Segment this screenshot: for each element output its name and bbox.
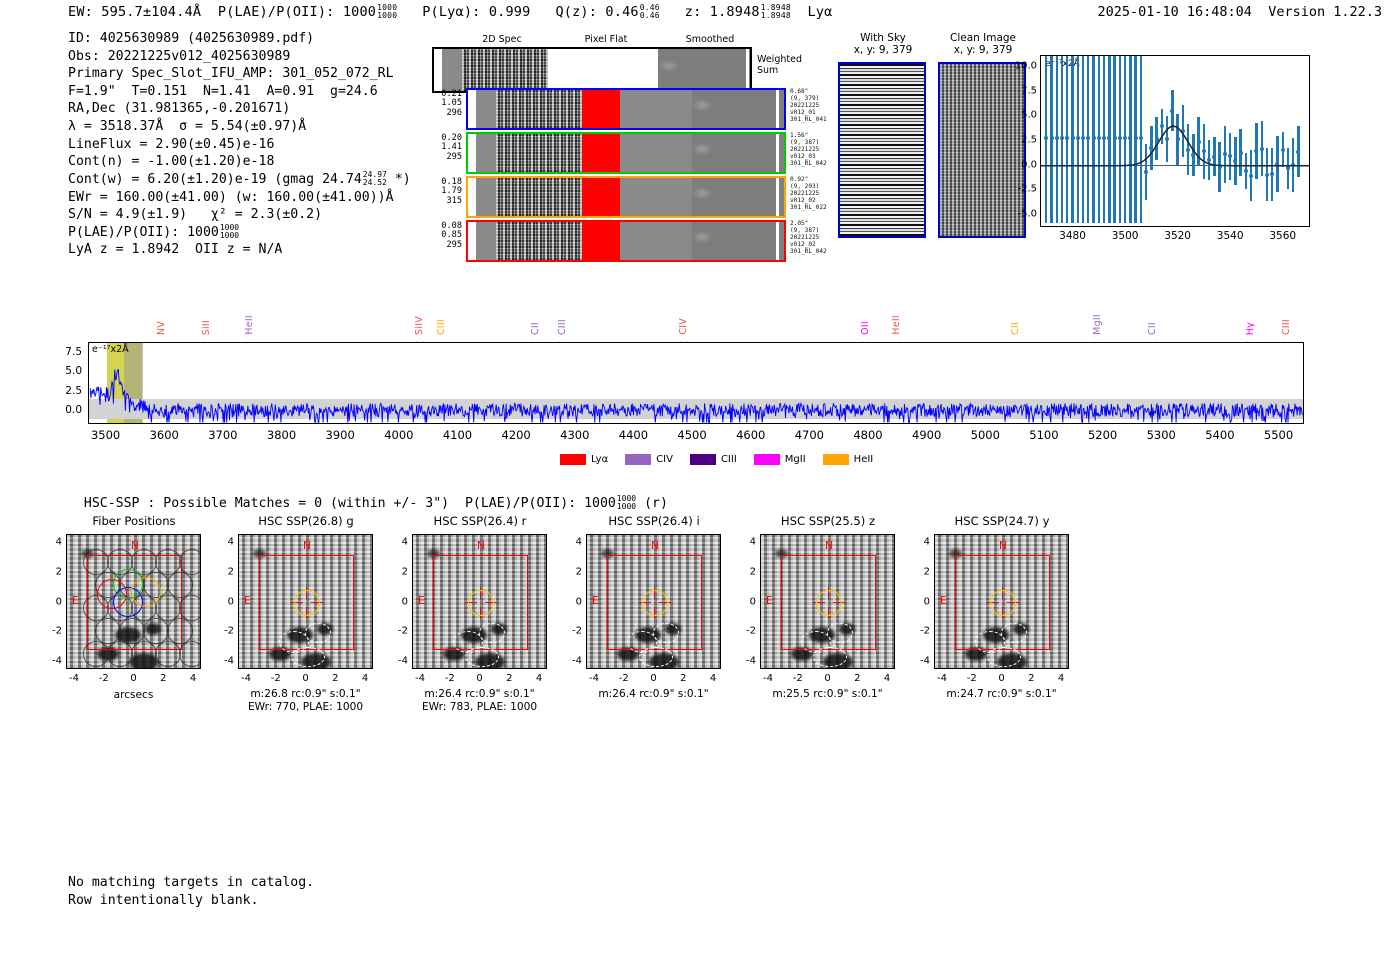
fitplot-y-tick: 0.0 [1021,159,1037,170]
gmag-fraction: 24.9724.52 [363,171,387,187]
emission-line-label: MgII [1092,314,1103,335]
legend-item: Lyα [560,454,608,465]
cutout-x-tick: -4 [937,673,947,684]
cutout-x-tick: 0 [130,673,136,684]
spectrum-x-tick: 4700 [795,428,824,442]
fiber-circle [83,641,109,667]
fiber-row-metrics: 0.181.79315 [432,178,462,206]
info-redshifts: LyA z = 1.8942 OII z = N/A [68,241,411,259]
spectrum-y-tick: 5.0 [65,365,82,377]
fiber-circle [119,618,145,644]
col-header-pixelflat: Pixel Flat [554,34,658,45]
emission-line-label: CII [1010,322,1021,335]
cutout-caption-mag: m:24.7 rc:0.9" s:0.1" [907,688,1097,701]
detected-source-ellipse [813,647,847,667]
info-plae: P(LAE)/P(OII): 100010001000 [68,224,411,242]
emission-line-label: NV [156,321,167,335]
emission-line-label: SiII [201,320,212,335]
emission-line-label: SiIV [414,316,425,335]
aperture-circle [294,590,320,616]
cutout-x-tick: -2 [793,673,803,684]
spectrum-x-tick: 4600 [736,428,765,442]
cutout-y-tick: 0 [44,596,62,607]
fiber-circle [83,549,109,575]
clean-image-title: Clean Imagex, y: 9, 379 [928,32,1038,56]
spectrum-x-tick: 4100 [443,428,472,442]
cutout-title: HSC SSP(26.8) g [221,514,391,528]
legend-label: HeII [854,454,874,465]
cutout-y-tick: 2 [44,566,62,577]
legend-swatch [625,454,651,465]
footer-line-2: Row intentionally blank. [68,892,314,910]
legend-swatch [823,454,849,465]
detected-source-ellipse [987,647,1021,667]
cutout-x-tick: -4 [763,673,773,684]
detected-source-ellipse [639,647,673,667]
cutout-x-tick: 0 [650,673,656,684]
summary-header: EW: 595.7±104.4Å P(LAE)/P(OII): 10001000… [68,4,833,20]
fitplot-y-tick: -2.5 [1017,184,1037,195]
cutout-y-tick: 2 [738,566,756,577]
fiber-circle [179,549,201,575]
weighted-sum-label: WeightedSum [757,54,802,76]
spectrum-x-tick: 4300 [560,428,589,442]
spectrum-x-tick: 4500 [677,428,706,442]
cutout-x-tick: 2 [160,673,166,684]
fiber-row-meta: 2.05"(9, 387)20221225v012_02301_RL_042 [790,220,844,255]
cutout-y-tick: -4 [912,656,930,667]
cutout-x-tick: 4 [190,673,196,684]
cutout-x-tick: -2 [99,673,109,684]
aperture-circle [468,590,494,616]
compass-east: E [766,595,773,607]
info-primary-spec: Primary Spec_Slot_IFU_AMP: 301_052_072_R… [68,65,411,83]
fiber-circle [95,618,121,644]
detected-source-ellipse [653,623,679,643]
cutout-x-tick: -2 [271,673,281,684]
emission-line-label: CIII [1281,319,1292,335]
spectrum-y-tick: 2.5 [65,385,82,397]
info-cont-n: Cont(n) = -1.00(±1.20)e-18 [68,153,411,171]
fiber-row-frame [466,220,786,262]
cutout-x-tick: 2 [506,673,512,684]
line-name: Lyα [808,4,833,20]
fitplot-x-tick: 3560 [1269,230,1296,242]
gaussian-fit-curve [1041,56,1309,226]
spectrum-x-tick: 3600 [150,428,179,442]
cutout-x-tick: 2 [680,673,686,684]
fiber-row-metrics: 0.201.41295 [432,134,462,162]
cutout-title: Fiber Positions [49,514,219,528]
emission-line-label: CIII [557,319,568,335]
cutout-y-tick: -2 [738,626,756,637]
col-header-smoothed: Smoothed [658,34,762,45]
info-obs: Obs: 20221225v012_4025630989 [68,48,411,66]
emission-line-label: CII [530,322,541,335]
spectrum-y-tick: 0.0 [65,404,82,416]
plya-value: P(Lyα): 0.999 [422,4,530,20]
spectrum-x-tick: 3700 [208,428,237,442]
legend-swatch [690,454,716,465]
cutout-y-tick: 0 [912,596,930,607]
fitplot-y-tick: -5.0 [1017,209,1037,220]
cutout-x-tick: -4 [415,673,425,684]
cutout-caption: m:24.7 rc:0.9" s:0.1" [907,688,1097,701]
compass-east: E [72,595,79,607]
cutout-x-tick: 2 [854,673,860,684]
legend-swatch [560,454,586,465]
fiber-row-meta: 1.56"(9, 387)20221225v012_03301_RL_042 [790,132,844,167]
spectrum-x-tick: 5500 [1264,428,1293,442]
fiber-row-frame [466,132,786,174]
aperture-circle [990,590,1016,616]
legend-item: CIII [690,454,737,465]
clean-image [938,62,1026,238]
info-lineflux: LineFlux = 2.90(±0.45)e-16 [68,136,411,154]
cutout-y-tick: 4 [912,537,930,548]
fitplot-x-tick: 3520 [1164,230,1191,242]
info-radec: RA,Dec (31.981365,-0.201671) [68,100,411,118]
legend-label: CIII [721,454,737,465]
fiber-circle [155,549,181,575]
compass-east: E [244,595,251,607]
compass-east: E [592,595,599,607]
cutout-y-tick: -2 [44,626,62,637]
fiber-circle [131,641,157,667]
cutout-y-tick: 0 [216,596,234,607]
legend-label: Lyα [591,454,608,465]
cutout-x-tick: -2 [619,673,629,684]
spectrum-x-tick: 5400 [1205,428,1234,442]
line-fit-plot: e⁻¹⁷x2Å 10.07.55.02.50.0-2.5-5.0 3480350… [1040,55,1310,227]
emission-line-label: OII [860,321,871,335]
spectrum-trace [89,343,1303,423]
info-snr: S/N = 4.9(±1.9) χ² = 2.3(±0.2) [68,206,411,224]
cutout-y-tick: -2 [564,626,582,637]
aperture-circle [816,590,842,616]
with-sky-title: With Skyx, y: 9, 379 [828,32,938,56]
cutout-caption-mag: m:25.5 rc:0.9" s:0.1" [733,688,923,701]
compass-north: N [651,540,659,552]
spectrum-x-tick: 3900 [326,428,355,442]
footer-note: No matching targets in catalog. Row inte… [68,874,314,910]
info-wavelength: λ = 3518.37Å σ = 5.54(±0.97)Å [68,118,411,136]
cutout-x-tick: -4 [241,673,251,684]
fiber-row-frame [466,176,786,218]
cutout-image[interactable]: NE [66,534,201,669]
emission-line-label: CIII [436,319,447,335]
spectrum-x-axis: 3500360037003800390040004100420043004400… [88,428,1304,444]
emission-line-label: HeII [244,315,255,335]
fitplot-x-tick: 3540 [1217,230,1244,242]
compass-north: N [999,540,1007,552]
cutout-title: HSC SSP(24.7) y [917,514,1087,528]
cutout-y-tick: -2 [390,626,408,637]
emission-line-label: CII [1147,322,1158,335]
cutout-y-tick: -2 [912,626,930,637]
cutout-x-tick: 0 [998,673,1004,684]
cutout-caption-ewr: EWr: 783, PLAE: 1000 [385,701,575,714]
cutout-title: HSC SSP(26.4) r [395,514,565,528]
cutout-image[interactable]: NE [760,534,895,669]
with-sky-image [838,62,926,238]
z-value: z: 1.8948 [685,4,760,20]
info-seeing: F=1.9" T=0.151 N=1.41 A=0.91 g=24.6 [68,83,411,101]
cutout-x-tick: -4 [589,673,599,684]
spectrum-x-tick: 3500 [91,428,120,442]
cutout-y-tick: -4 [390,656,408,667]
cutout-x-tick: 4 [536,673,542,684]
info-plae-fraction: 10001000 [220,224,239,240]
emission-line-label: CIV [678,318,689,335]
cutout-y-tick: 4 [564,537,582,548]
cutout-y-tick: 0 [738,596,756,607]
fitplot-x-tick: 3500 [1112,230,1139,242]
legend-label: CIV [656,454,673,465]
source-info-block: ID: 4025630989 (4025630989.pdf) Obs: 202… [68,30,411,259]
cutout-y-tick: 2 [912,566,930,577]
info-ewr: EWr = 160.00(±41.00) (w: 160.00(±41.00))… [68,189,411,207]
fiber-row-meta: 0.68"(9, 379)20221225v012_01301_RL_041 [790,88,844,123]
cutout-caption: m:26.4 rc:0.9" s:0.1" [559,688,749,701]
legend-swatch [754,454,780,465]
spectrum-x-tick: 3800 [267,428,296,442]
spectrum-x-tick: 4200 [501,428,530,442]
cutout-x-tick: 4 [1058,673,1064,684]
cutout-y-tick: -4 [216,656,234,667]
emission-line-label: Hγ [1245,322,1256,335]
cutout-y-tick: 2 [390,566,408,577]
cutout-y-tick: 4 [390,537,408,548]
cutout-caption: m:25.5 rc:0.9" s:0.1" [733,688,923,701]
detected-source-ellipse [827,623,853,643]
fiber-circle [179,595,201,621]
legend-item: HeII [823,454,874,465]
cutout-y-tick: 0 [564,596,582,607]
aperture-circle [642,590,668,616]
fiber-row-frame [466,88,786,130]
fiber-circle [179,641,201,667]
cutout-x-tick: -2 [445,673,455,684]
fitplot-y-tick: 5.0 [1021,110,1037,121]
compass-east: E [418,595,425,607]
cutout-x-tick: 0 [476,673,482,684]
cutout-y-tick: 2 [216,566,234,577]
fiber-row-metrics: 0.080.85295 [432,222,462,250]
fitplot-x-tick: 3480 [1059,230,1086,242]
version: Version 1.22.3 [1268,4,1382,20]
cutout-x-tick: 2 [332,673,338,684]
cutout-y-tick: 0 [390,596,408,607]
plae-fraction: 10001000 [377,4,397,20]
detected-source-ellipse [465,647,499,667]
fitplot-y-tick: 2.5 [1021,135,1037,146]
ew-value: EW: 595.7±104.4Å [68,4,201,20]
z-fraction: 1.89481.8948 [761,4,791,20]
cutout-y-tick: 4 [738,537,756,548]
cutout-title: HSC SSP(25.5) z [743,514,913,528]
fiber-row-meta: 0.92"(9, 203)20221225v012_02301_RL_022 [790,176,844,211]
compass-north: N [303,540,311,552]
cutout-caption-ewr: EWr: 770, PLAE: 1000 [211,701,401,714]
legend-label: MgII [785,454,806,465]
spectrum-x-tick: 5100 [1029,428,1058,442]
cutout-image[interactable]: NE [934,534,1069,669]
spectrum-x-tick: 4900 [912,428,941,442]
detected-source-ellipse [1001,623,1027,643]
qz-value: Q(z): 0.46 [555,4,638,20]
arcsec-axis-label: arcsecs [114,689,154,701]
fiber-circle [155,641,181,667]
cutout-x-tick: 4 [362,673,368,684]
cutout-x-tick: -4 [69,673,79,684]
legend-item: CIV [625,454,673,465]
cutout-x-tick: 2 [1028,673,1034,684]
cutout-caption-mag: m:26.8 rc:0.9" s:0.1" [211,688,401,701]
cutout-y-tick: -4 [738,656,756,667]
detected-source-ellipse [305,623,331,643]
fiber-circle-highlight [131,577,161,607]
cutout-x-tick: 4 [884,673,890,684]
compass-east: E [940,595,947,607]
spectrum-x-tick: 4000 [384,428,413,442]
col-header-2dspec: 2D Spec [450,34,554,45]
plae-label: P(LAE)/P(OII): 1000 [218,4,376,20]
cutout-image[interactable]: NE [412,534,547,669]
cutout-y-tick: -2 [216,626,234,637]
cutout-y-tick: 4 [44,537,62,548]
info-cont-w: Cont(w) = 6.20(±1.20)e-19 (gmag 24.7424.… [68,171,411,189]
fiber-circle [167,618,193,644]
compass-north: N [477,540,485,552]
footer-line-1: No matching targets in catalog. [68,874,314,892]
emission-line-labels: NV(SiII(HeII(SiIV(CIII(CII(CIII(CIV(OII(… [88,305,1304,345]
cutout-caption: m:26.8 rc:0.9" s:0.1"EWr: 770, PLAE: 100… [211,688,401,715]
fiber-row-metrics: 0.211.05296 [432,90,462,118]
hsc-match-header: HSC-SSP : Possible Matches = 0 (within +… [68,480,668,511]
cutout-y-tick: 4 [216,537,234,548]
spectrum-units: e⁻¹⁷x2Å [92,344,129,355]
spectrum-x-tick: 4800 [853,428,882,442]
spectrum-y-tick: 7.5 [65,346,82,358]
cutout-y-tick: -4 [44,656,62,667]
compass-north: N [825,540,833,552]
weighted-sum-strip [432,47,752,93]
cutout-y-tick: -4 [564,656,582,667]
detected-source-ellipse [291,647,325,667]
detected-source-ellipse [479,623,505,643]
cutout-x-tick: 0 [302,673,308,684]
qz-fraction: 0.460.46 [640,4,660,20]
spectrum-x-tick: 4400 [619,428,648,442]
cutout-image[interactable]: NE [586,534,721,669]
fiber-circle [143,618,169,644]
cutout-x-tick: -2 [967,673,977,684]
cutout-y-tick: 2 [564,566,582,577]
spectrum-x-tick: 5200 [1088,428,1117,442]
spectrum-x-tick: 5300 [1147,428,1176,442]
cutout-caption-mag: m:26.4 rc:0.9" s:0.1" [385,688,575,701]
spectrum-y-axis: 7.55.02.50.0 [60,342,86,424]
timestamp-version: 2025-01-10 16:48:04 Version 1.22.3 [1098,4,1383,20]
hsc-plae-fraction: 10001000 [617,495,636,511]
fitplot-y-tick: 10.0 [1015,60,1037,71]
fiber-circle [107,641,133,667]
legend-item: MgII [754,454,806,465]
fiber-circle [167,572,193,598]
fitplot-y-tick: 7.5 [1021,85,1037,96]
cutout-image[interactable]: NE [238,534,373,669]
cutout-title: HSC SSP(26.4) i [569,514,739,528]
timestamp: 2025-01-10 16:48:04 [1098,4,1252,20]
cutout-x-tick: 4 [710,673,716,684]
cutout-caption: m:26.4 rc:0.9" s:0.1"EWr: 783, PLAE: 100… [385,688,575,715]
full-spectrum-plot [88,342,1304,424]
spectrum-x-tick: 5000 [971,428,1000,442]
info-id: ID: 4025630989 (4025630989.pdf) [68,30,411,48]
cutout-x-tick: 0 [824,673,830,684]
cutout-caption-mag: m:26.4 rc:0.9" s:0.1" [559,688,749,701]
spectrum-legend: LyαCIVCIIIMgIIHeII [560,450,890,469]
emission-line-label: HeII [891,315,902,335]
